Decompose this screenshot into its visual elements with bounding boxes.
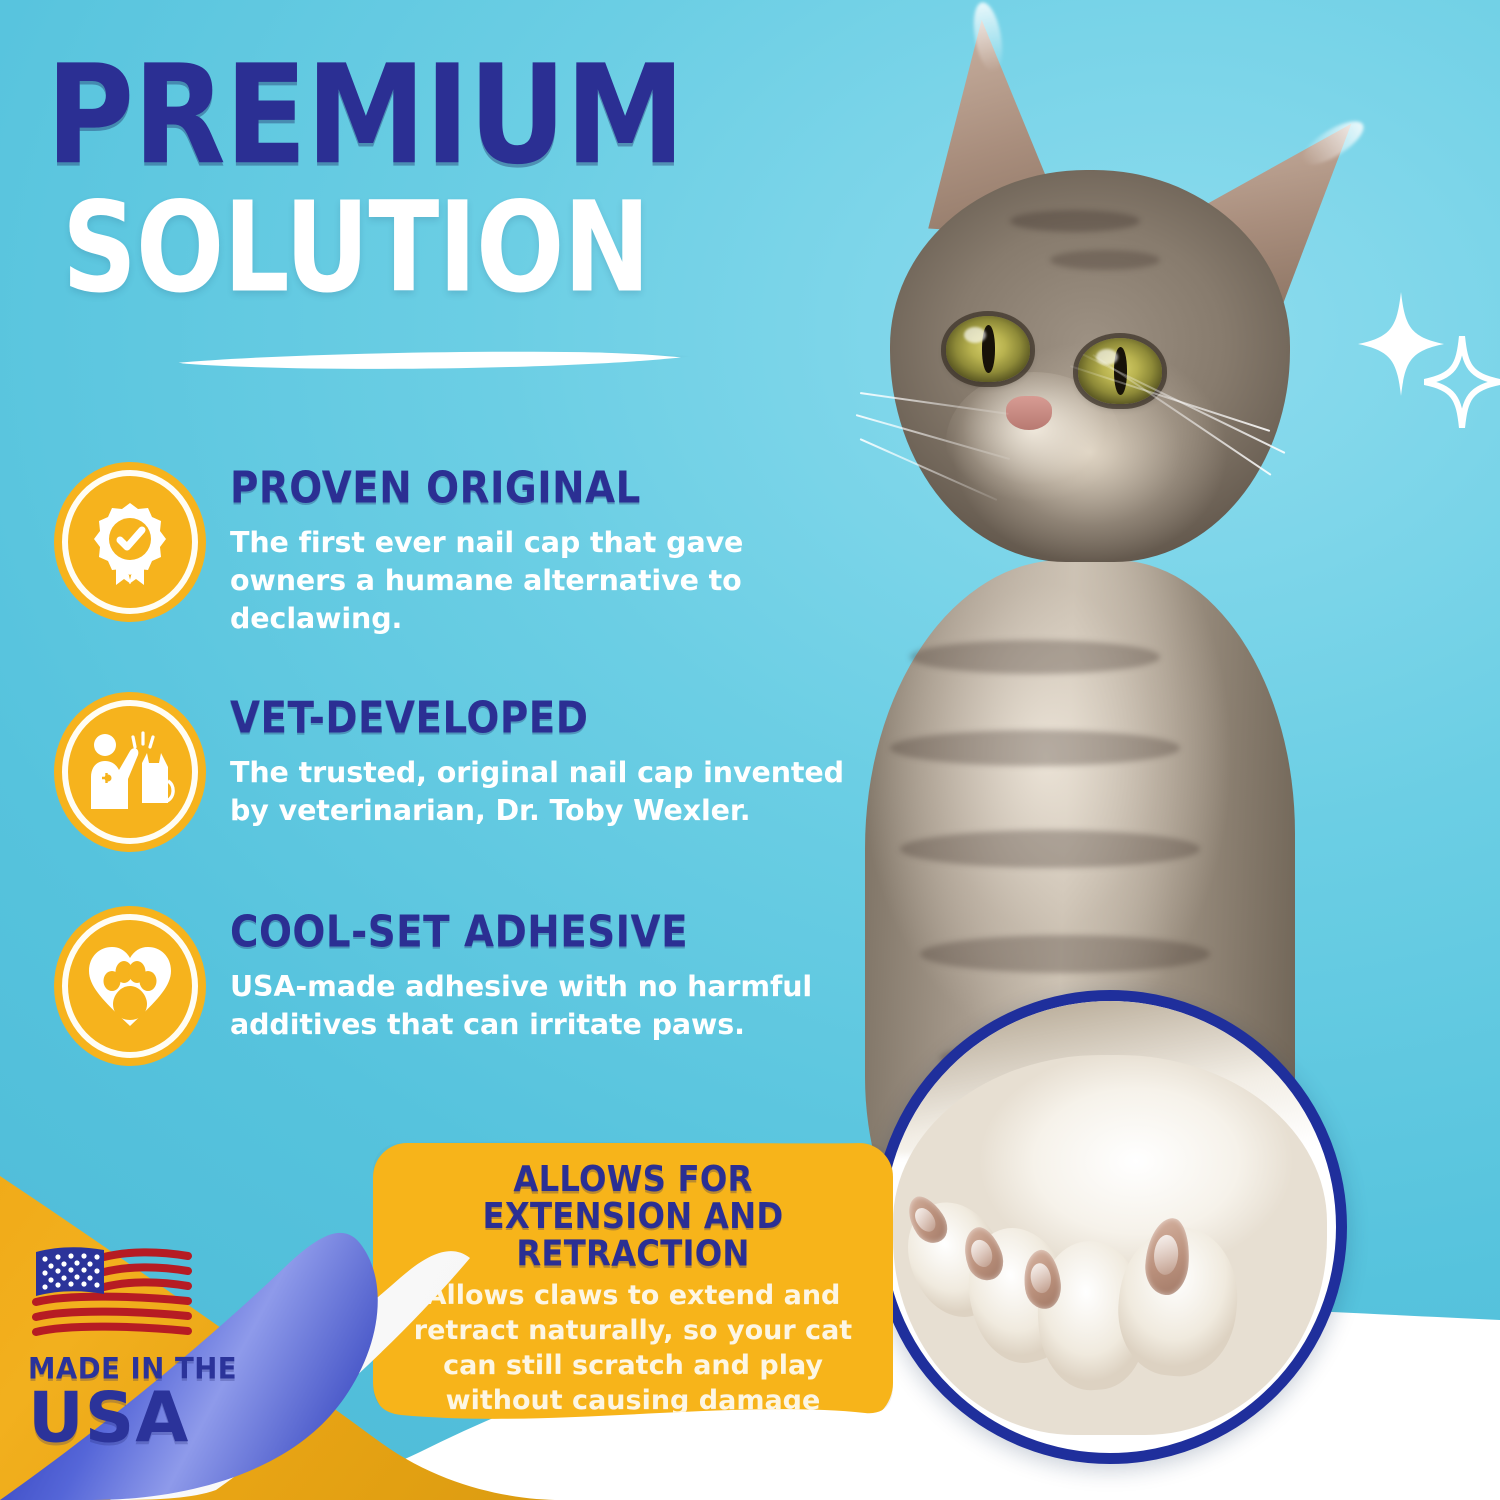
cat-paw-with-nail-caps-photo (873, 990, 1347, 1464)
feature-body: The first ever nail cap that gave owners… (230, 524, 854, 638)
headline-line-premium: PREMIUM (46, 52, 893, 178)
feature-body: USA-made adhesive with no harmful additi… (230, 968, 854, 1044)
heart-paw-icon (54, 906, 206, 1066)
callout-title: ALLOWS FOR EXTENSION AND RETRACTION (404, 1161, 863, 1272)
feature-title: PROVEN ORIGINAL (230, 466, 835, 510)
feature-item: PROVEN ORIGINAL The first ever nail cap … (54, 462, 854, 638)
product-feature-graphic: PREMIUM SOLUTION PROVEN ORIGINAL The fir… (0, 0, 1500, 1500)
feature-list: PROVEN ORIGINAL The first ever nail cap … (54, 462, 854, 1120)
headline: PREMIUM SOLUTION (46, 52, 876, 286)
feature-title: VET-DEVELOPED (230, 696, 835, 740)
callout-box: ALLOWS FOR EXTENSION AND RETRACTION Allo… (373, 1143, 893, 1423)
award-ribbon-check-icon (54, 462, 206, 622)
sparkle-four-point-outline-icon (1424, 336, 1500, 428)
feature-item: COOL-SET ADHESIVE USA-made adhesive with… (54, 906, 854, 1066)
vet-high-five-cat-icon (54, 692, 206, 852)
feature-item: VET-DEVELOPED The trusted, original nail… (54, 692, 854, 852)
headline-line-solution: SOLUTION (46, 191, 876, 306)
underline-swoosh (176, 350, 694, 372)
callout-body: Allows claws to extend and retract natur… (399, 1278, 867, 1418)
made-in-usa-badge: MADE IN THE USA (28, 1246, 258, 1452)
usa-flag-icon (28, 1246, 194, 1342)
usa-badge-line-2: USA (28, 1381, 267, 1454)
feature-body: The trusted, original nail cap invented … (230, 754, 854, 830)
feature-title: COOL-SET ADHESIVE (230, 910, 835, 954)
